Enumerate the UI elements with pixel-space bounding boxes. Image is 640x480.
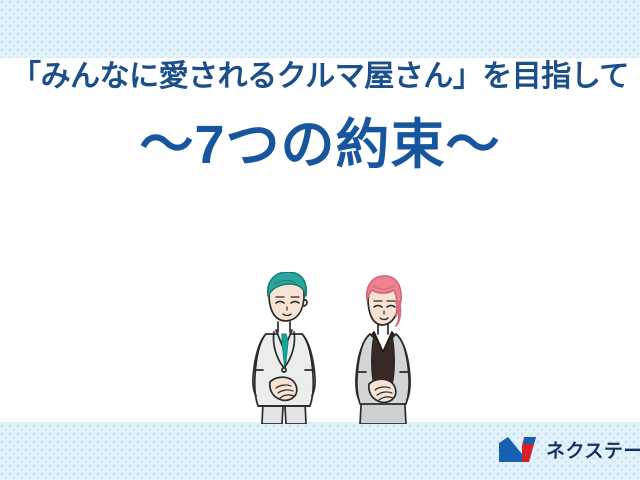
- nextage-logo[interactable]: ネクステージ: [498, 436, 640, 463]
- nextage-n-logo-icon: [498, 436, 538, 463]
- businessman-bowing: [253, 272, 315, 424]
- two-people-bowing-illustration: [238, 272, 428, 424]
- nextage-logo-text: ネクステージ: [546, 436, 640, 463]
- slide-canvas: 「みんなに愛されるクルマ屋さん」を目指して ～7つの約束～: [0, 0, 640, 480]
- businesswoman-bowing: [356, 276, 410, 424]
